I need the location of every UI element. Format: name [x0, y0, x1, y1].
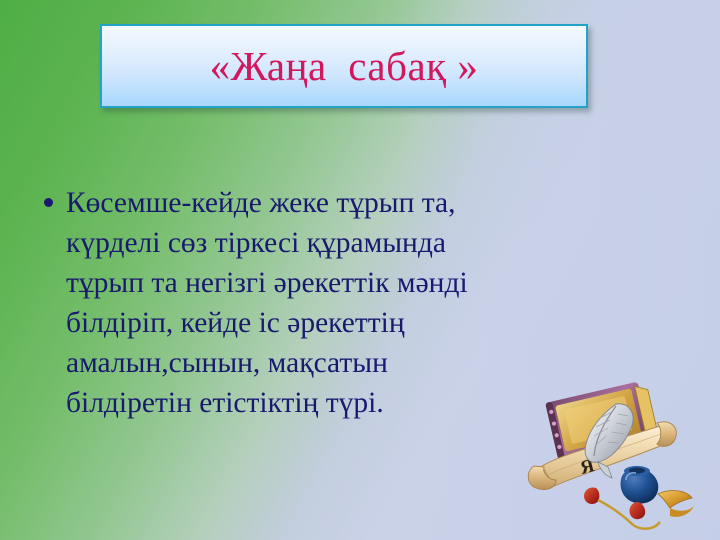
- blue-inkwell-icon: [621, 466, 659, 504]
- bullet-dot-icon: [44, 198, 53, 207]
- bullet-item-label: Көсемше-кейде жеке тұрып та, күрделі сөз…: [66, 183, 578, 423]
- slide-title-box: «Жаңа сабақ »: [100, 24, 588, 108]
- book-scroll-quill-inkwell-illustration: Я: [520, 370, 710, 535]
- slide-title-text: «Жаңа сабақ »: [210, 46, 479, 87]
- slide-body-content: Көсемше-кейде жеке тұрып та, күрделі сөз…: [38, 183, 578, 423]
- slide-canvas: «Жаңа сабақ » Көсемше-кейде жеке тұрып т…: [0, 0, 720, 540]
- list-item: Көсемше-кейде жеке тұрып та, күрделі сөз…: [38, 183, 578, 423]
